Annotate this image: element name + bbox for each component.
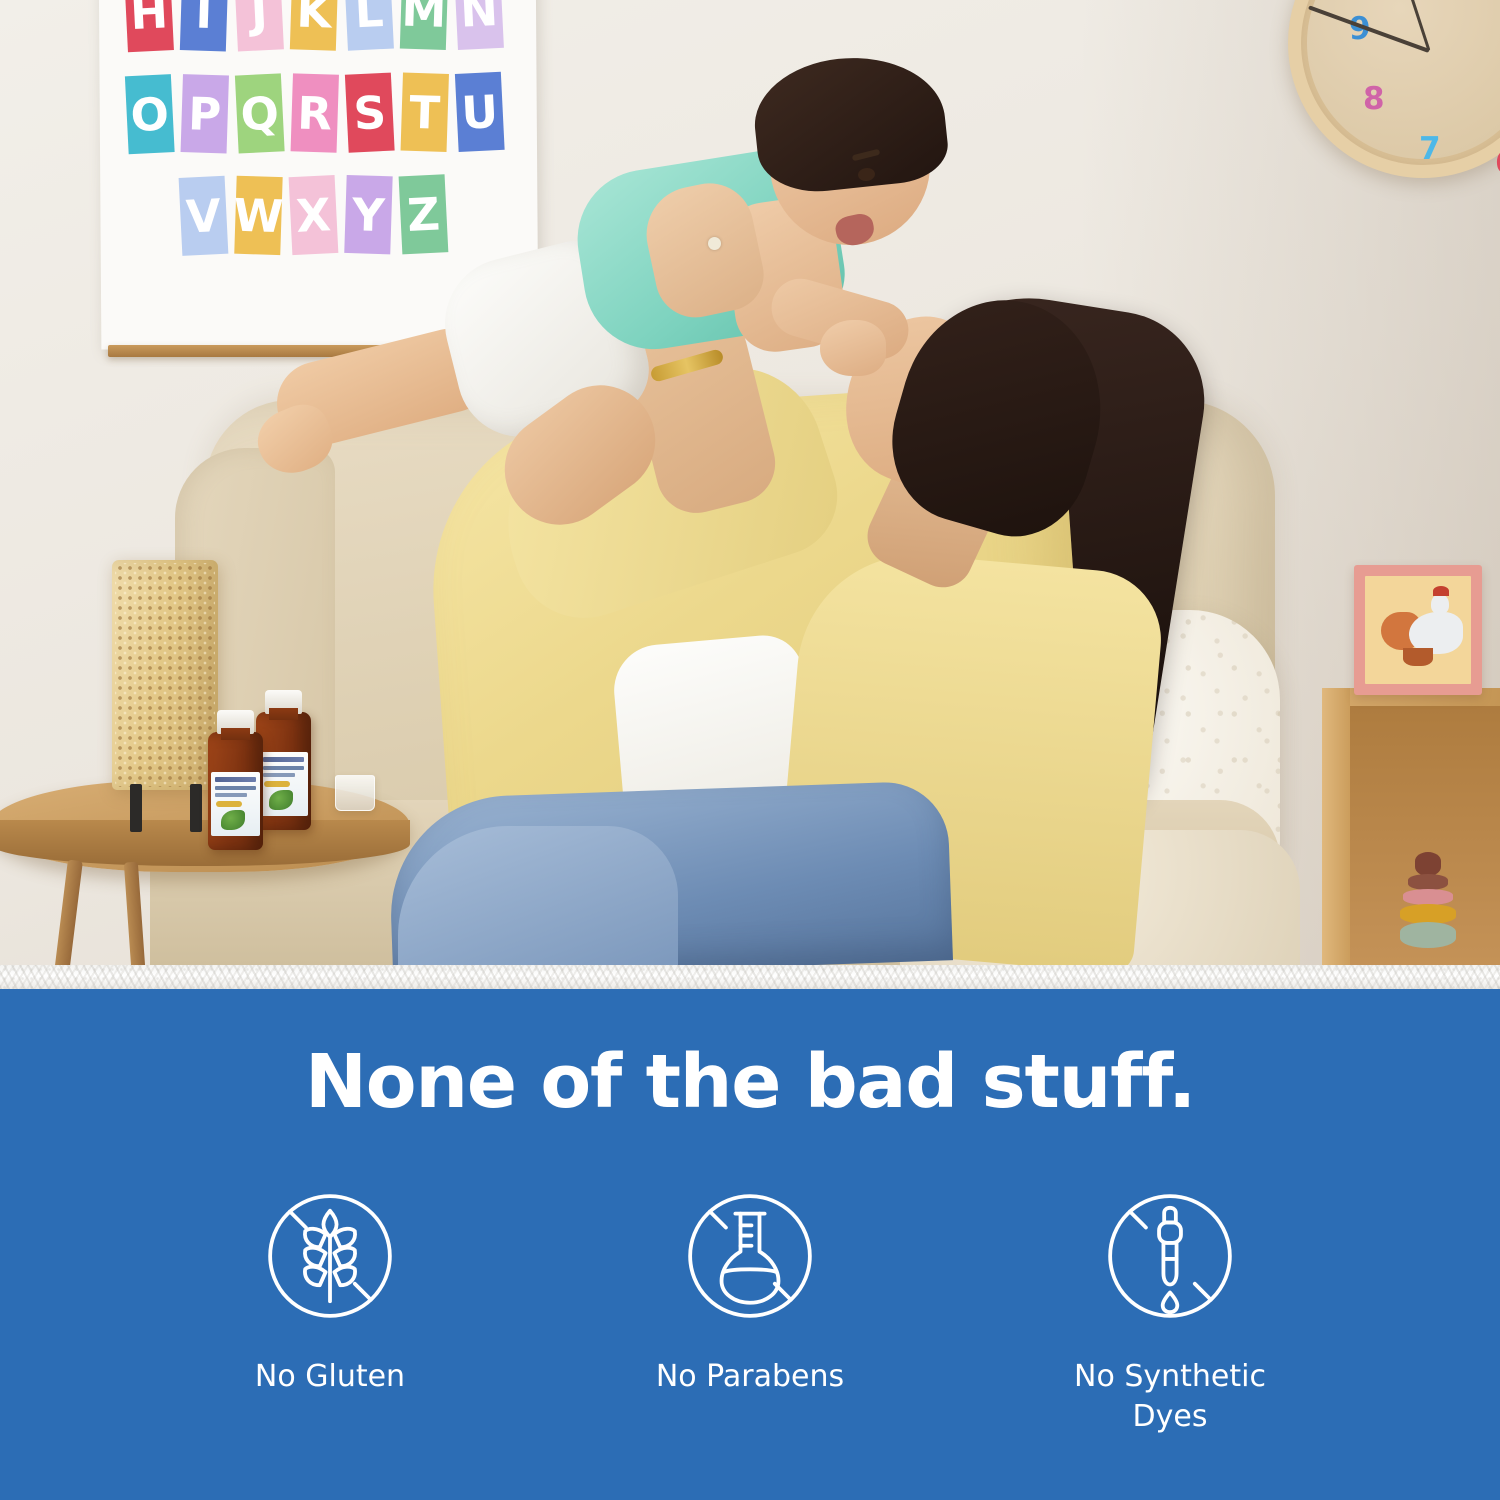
side-table-edge [0, 820, 410, 866]
medicine-bottle-back [256, 712, 311, 830]
poster-letter-y: Y [344, 175, 392, 254]
clock-number-7: 7 [1419, 131, 1441, 167]
hen-comb [1433, 586, 1449, 596]
poster-row-2: OPQRSTU [126, 73, 503, 154]
poster-letter-n: N [454, 0, 504, 50]
promo-image: HIJKLMN OPQRSTU VWXYZ 109876 [0, 0, 1500, 1500]
toy-segment-5 [1400, 922, 1456, 948]
poster-letter-w: W [234, 176, 282, 255]
page-title: None of the bad stuff. [0, 1039, 1500, 1125]
claim-label: No Parabens [620, 1357, 880, 1397]
label-brand-line [263, 757, 304, 762]
bottle-neck [221, 728, 250, 740]
label-title-line [215, 786, 256, 790]
label-badge [264, 781, 290, 787]
hen-head [1431, 594, 1449, 614]
baby-hand [820, 320, 886, 376]
poster-letter-o: O [125, 74, 175, 154]
clock-face: 109876 [1307, 0, 1500, 159]
poster-letter-p: P [181, 74, 229, 153]
claims-row: No Gluten No Parabens [0, 1183, 1500, 1437]
poster-letter-v: V [179, 176, 229, 256]
claim-no-parabens: No Parabens [540, 1183, 960, 1397]
no-synthetic-dyes-icon [1097, 1183, 1243, 1329]
label-leaf-graphic [221, 810, 245, 830]
blanket-divider [0, 965, 1500, 989]
toy-segment-4 [1400, 904, 1456, 924]
poster-letter-h: H [124, 0, 174, 52]
poster-letter-r: R [291, 73, 339, 152]
toy-segment-3 [1403, 889, 1453, 905]
poster-letter-s: S [345, 73, 395, 153]
rattan-table-lamp [112, 560, 218, 790]
lifestyle-photo: HIJKLMN OPQRSTU VWXYZ 109876 [0, 0, 1500, 965]
clock-number-6: 6 [1495, 145, 1500, 181]
label-subtitle-line [215, 793, 247, 797]
label-brand-line [215, 777, 256, 782]
poster-letter-j: J [234, 0, 284, 51]
medicine-bottle-front [208, 732, 263, 850]
label-badge [216, 801, 242, 807]
claim-no-synthetic-dyes: No Synthetic Dyes [960, 1183, 1380, 1437]
frame-mat [1365, 576, 1471, 684]
claim-label: No Synthetic Dyes [1040, 1357, 1300, 1437]
poster-letter-z: Z [399, 174, 449, 254]
claim-label: No Gluten [200, 1357, 460, 1397]
poster-letter-x: X [289, 175, 339, 255]
no-parabens-icon [677, 1183, 823, 1329]
poster-row-3: VWXYZ [180, 175, 447, 255]
label-leaf-graphic [269, 790, 293, 810]
shelf-side-panel [1322, 688, 1350, 965]
poster-letter-u: U [455, 72, 505, 152]
bottle-label [211, 772, 260, 836]
label-title-line [263, 766, 304, 770]
no-gluten-icon [257, 1183, 403, 1329]
poster-letter-l: L [344, 0, 394, 51]
dosing-cup [335, 775, 375, 811]
lamp-leg-left [130, 784, 142, 832]
poster-letter-i: I [180, 0, 228, 51]
toy-segment-2 [1408, 874, 1448, 890]
poster-row-1: HIJKLMN [126, 0, 503, 51]
stacking-toy [1400, 852, 1456, 948]
clock-number-8: 8 [1363, 81, 1385, 117]
poster-letter-k: K [290, 0, 338, 51]
claim-no-gluten: No Gluten [120, 1183, 540, 1397]
bottle-neck [269, 708, 298, 720]
hen-feet [1403, 648, 1433, 666]
mother-ring [708, 237, 721, 250]
lamp-leg-right [190, 784, 202, 832]
poster-letter-t: T [401, 73, 449, 152]
label-subtitle-line [263, 773, 295, 777]
poster-letter-q: Q [235, 73, 285, 153]
framed-hen-picture [1354, 565, 1482, 695]
toy-segment-1 [1415, 852, 1441, 876]
bottle-label [259, 752, 308, 816]
poster-letter-m: M [400, 0, 448, 50]
